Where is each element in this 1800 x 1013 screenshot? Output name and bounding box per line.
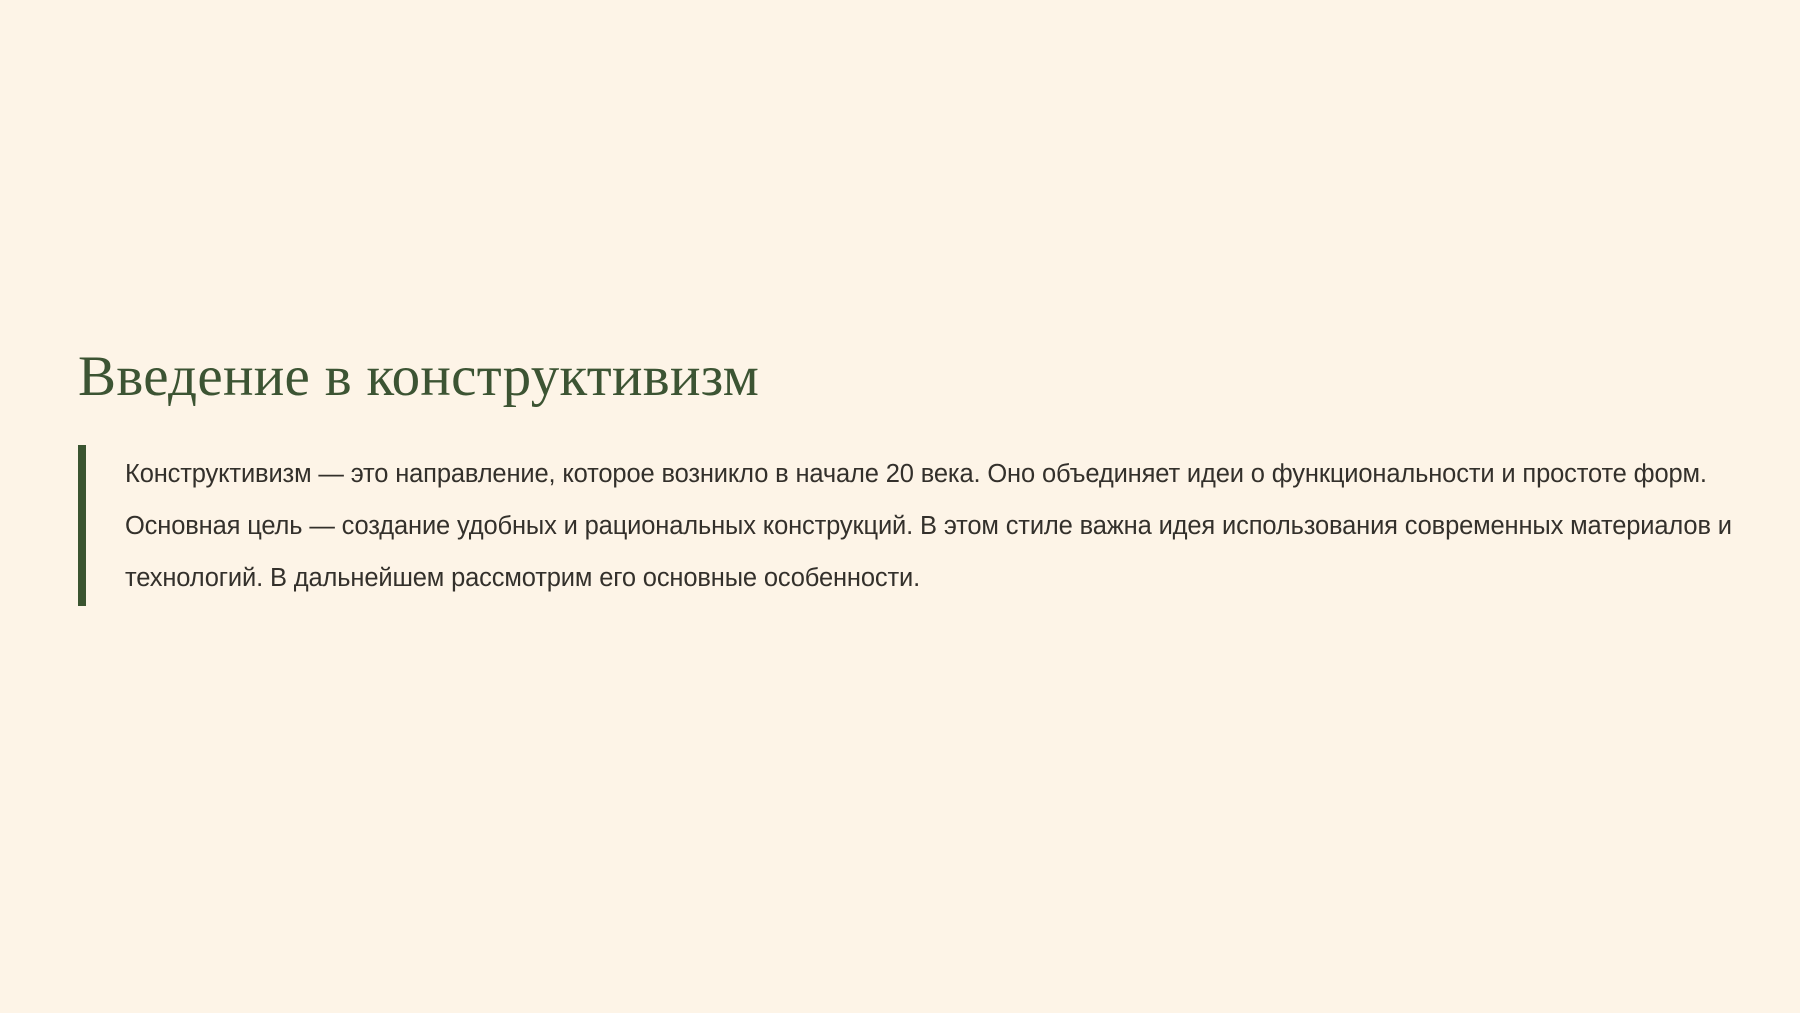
quote-block: Конструктивизм — это направление, которо… — [78, 445, 1738, 606]
quote-accent-bar — [78, 445, 86, 606]
page-title: Введение в конструктивизм — [78, 345, 1738, 409]
quote-paragraph: Конструктивизм — это направление, которо… — [125, 448, 1738, 604]
slide-content-container: Введение в конструктивизм Конструктивизм… — [78, 345, 1738, 606]
quote-body: Конструктивизм — это направление, которо… — [86, 445, 1738, 606]
slide-canvas: Введение в конструктивизм Конструктивизм… — [0, 0, 1800, 1013]
